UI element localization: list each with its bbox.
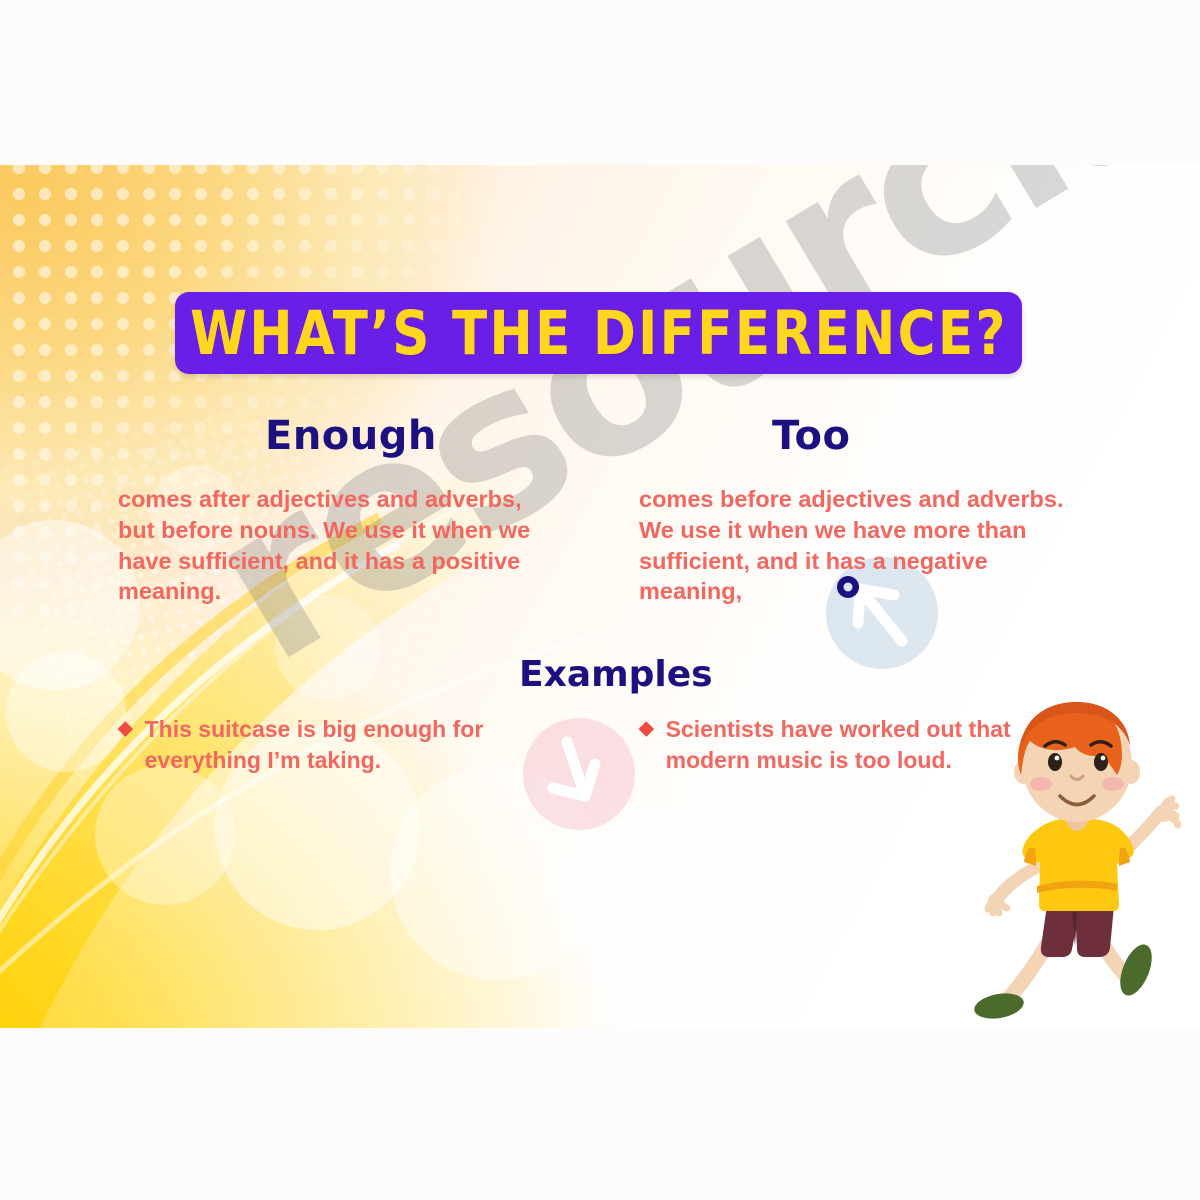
slide-canvas: resourcia [0, 0, 1200, 1200]
boy-left-arm [988, 868, 1035, 913]
diamond-bullet-icon: ◆ [118, 714, 133, 775]
example-item-enough: ◆ This suitcase is big enough for everyt… [118, 714, 538, 775]
boy-head [1014, 702, 1140, 822]
diamond-bullet-icon: ◆ [639, 714, 654, 775]
bokeh-circle [95, 765, 235, 905]
bokeh-circle [640, 905, 770, 1028]
column-body-too: comes before adjectives and adverbs. We … [639, 484, 1109, 607]
column-heading-enough: Enough [265, 413, 437, 459]
column-body-enough: comes after adjectives and adverbs, but … [118, 484, 568, 607]
column-heading-too: Too [772, 413, 850, 459]
example-text: Scientists have worked out that modern m… [666, 714, 1011, 775]
slide: resourcia [0, 165, 1200, 1028]
title-banner: WHAT’S THE DIFFERENCE? [175, 292, 1022, 374]
bokeh-circle [6, 652, 126, 772]
page-title: WHAT’S THE DIFFERENCE? [190, 303, 1008, 364]
bokeh-circle [275, 595, 380, 700]
example-text: This suitcase is big enough for everythi… [145, 714, 484, 775]
examples-heading: Examples [519, 654, 713, 695]
jumping-boy-illustration [965, 690, 1200, 1028]
